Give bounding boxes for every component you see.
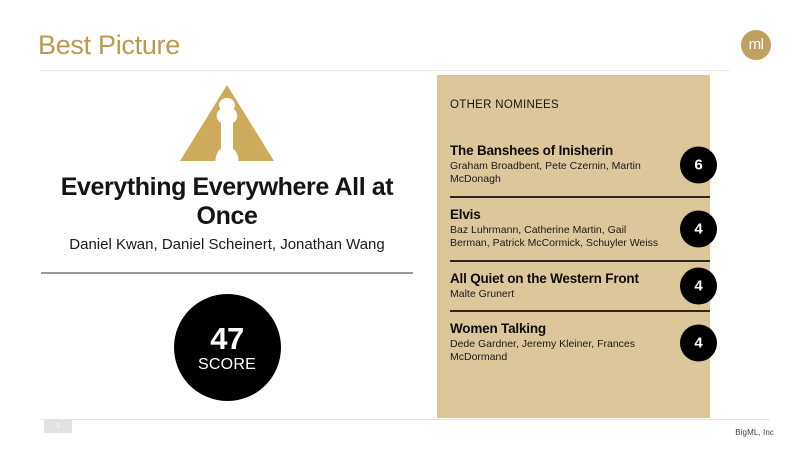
nominee-count-badge: 4 <box>680 267 717 304</box>
bigml-logo-icon: ml <box>741 30 771 60</box>
slide-canvas: Best Picture ml Everything Everywhere Al… <box>0 0 810 455</box>
nominee-count-badge: 6 <box>680 146 717 183</box>
other-nominees-heading: OTHER NOMINEES <box>450 99 559 111</box>
nominee-text: All Quiet on the Western Front Malte Gru… <box>450 271 665 301</box>
nominee-text: Elvis Baz Luhrmann, Catherine Martin, Ga… <box>450 207 665 251</box>
list-item[interactable]: The Banshees of Inisherin Graham Broadbe… <box>450 134 710 198</box>
academy-awards-triangle-icon <box>180 85 274 161</box>
nominee-count-badge: 4 <box>680 210 717 247</box>
nominees-list: The Banshees of Inisherin Graham Broadbe… <box>450 134 710 374</box>
list-item[interactable]: All Quiet on the Western Front Malte Gru… <box>450 262 710 312</box>
nominee-text: The Banshees of Inisherin Graham Broadbe… <box>450 143 665 187</box>
nominee-people: Baz Luhrmann, Catherine Martin, Gail Ber… <box>450 224 665 251</box>
nominee-title: All Quiet on the Western Front <box>450 271 665 287</box>
winner-divider <box>41 272 413 274</box>
page-title: Best Picture <box>38 30 180 61</box>
winner-people: Daniel Kwan, Daniel Scheinert, Jonathan … <box>40 236 414 254</box>
header-divider <box>40 70 730 71</box>
list-item[interactable]: Women Talking Dede Gardner, Jeremy Klein… <box>450 312 710 374</box>
nominee-title: The Banshees of Inisherin <box>450 143 665 159</box>
nominee-title: Women Talking <box>450 321 665 337</box>
list-item[interactable]: Elvis Baz Luhrmann, Catherine Martin, Ga… <box>450 198 710 262</box>
winner-title: Everything Everywhere All at Once <box>40 173 414 230</box>
score-value: 47 <box>210 323 243 354</box>
footer-divider <box>40 419 770 420</box>
nominee-text: Women Talking Dede Gardner, Jeremy Klein… <box>450 321 665 365</box>
score-badge: 47 SCORE <box>174 294 281 401</box>
score-label: SCORE <box>198 357 256 373</box>
nominee-count-badge: 4 <box>680 324 717 361</box>
nominee-people: Malte Grunert <box>450 288 665 301</box>
nominee-title: Elvis <box>450 207 665 223</box>
nominee-people: Dede Gardner, Jeremy Kleiner, Frances Mc… <box>450 338 665 365</box>
winner-section: Everything Everywhere All at Once Daniel… <box>40 80 414 401</box>
page-number: 1 <box>44 420 72 433</box>
footer-credit: BigML, Inc <box>735 428 774 437</box>
nominee-people: Graham Broadbent, Pete Czernin, Martin M… <box>450 160 665 187</box>
other-nominees-panel: OTHER NOMINEES The Banshees of Inisherin… <box>437 75 710 418</box>
